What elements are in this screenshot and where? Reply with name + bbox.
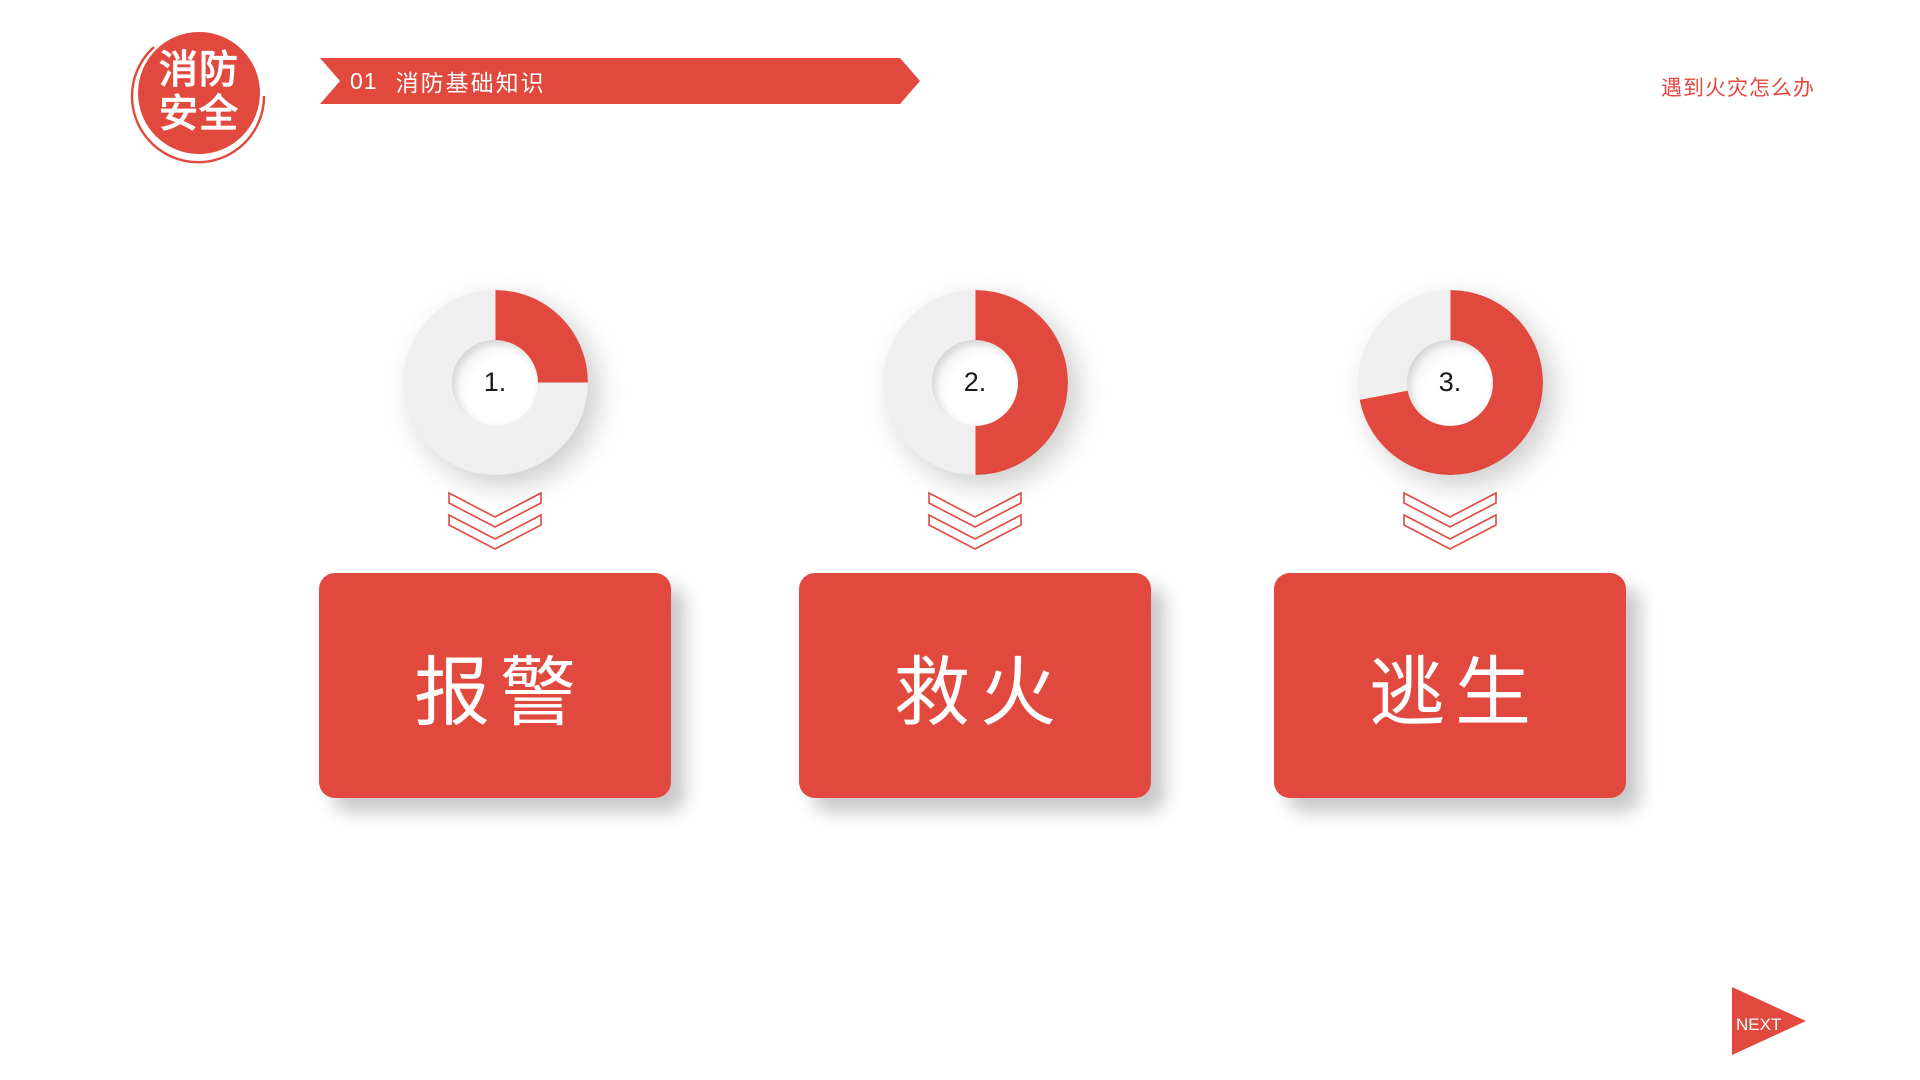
next-button[interactable]: NEXT — [1730, 985, 1808, 1057]
logo-circle: 消防 安全 — [138, 32, 260, 154]
donut-chart-1: 1. — [403, 290, 588, 475]
brand-logo: 消防 安全 — [124, 22, 272, 170]
section-number: 01 — [350, 68, 378, 95]
step-number-3: 3. — [1439, 367, 1462, 398]
donut-chart-2: 2. — [883, 290, 1068, 475]
chevron-down-icon-3 — [1400, 489, 1500, 551]
donut-center-2: 2. — [932, 340, 1018, 426]
next-button-label: NEXT — [1736, 1015, 1781, 1035]
chevron-down-icon-1 — [445, 489, 545, 551]
donut-center-3: 3. — [1407, 340, 1493, 426]
step-card-3[interactable]: 逃生 — [1274, 573, 1626, 798]
step-column-2: 2. 救火 — [755, 290, 1195, 798]
step-number-2: 2. — [964, 367, 987, 398]
section-banner-text: 01 消防基础知识 — [350, 58, 546, 104]
slide-canvas: 消防 安全 01 消防基础知识 遇到火灾怎么办 1. — [0, 0, 1920, 1080]
donut-chart-3: 3. — [1358, 290, 1543, 475]
step-card-2[interactable]: 救火 — [799, 573, 1151, 798]
chevron-down-icon-2 — [925, 489, 1025, 551]
steps-container: 1. 报警 2. — [0, 0, 1920, 1080]
page-title: 遇到火灾怎么办 — [1661, 72, 1815, 102]
step-card-label-1: 报警 — [404, 631, 586, 741]
section-banner: 01 消防基础知识 — [320, 58, 920, 104]
step-column-1: 1. 报警 — [275, 290, 715, 798]
logo-text-line1: 消防 — [159, 49, 239, 93]
section-title: 消防基础知识 — [396, 64, 546, 98]
logo-text-line2: 安全 — [159, 93, 239, 137]
step-number-1: 1. — [484, 367, 507, 398]
step-column-3: 3. 逃生 — [1230, 290, 1670, 798]
step-card-label-2: 救火 — [884, 631, 1066, 741]
donut-center-1: 1. — [452, 340, 538, 426]
step-card-label-3: 逃生 — [1359, 631, 1541, 741]
step-card-1[interactable]: 报警 — [319, 573, 671, 798]
